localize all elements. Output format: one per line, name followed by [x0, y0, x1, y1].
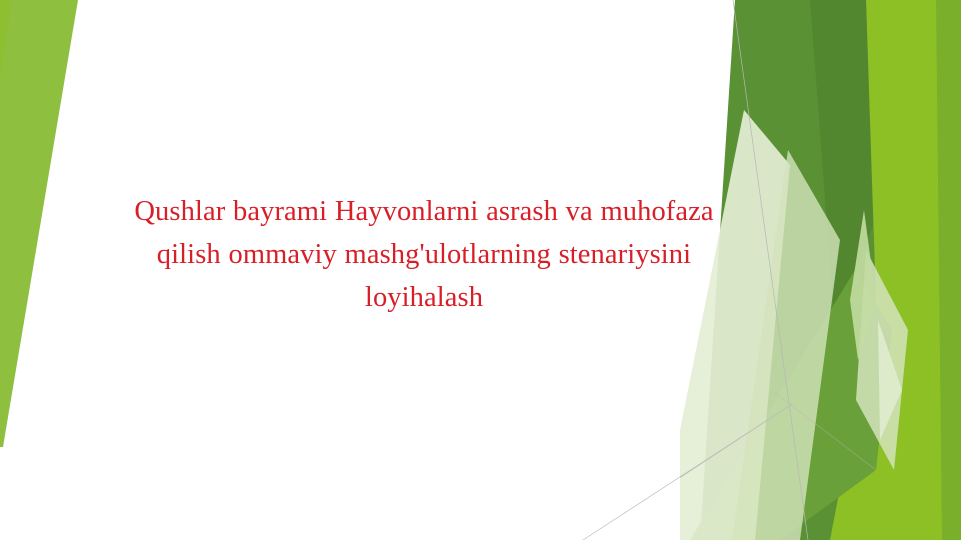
- thin-gray-diagonal-line: [733, 0, 808, 540]
- facet-light-tip: [878, 320, 902, 440]
- thin-gray-diagonal-line-3: [774, 392, 876, 470]
- facet-deep-green-wedge: [810, 0, 873, 330]
- facet-olive-base: [766, 0, 961, 540]
- left-lime-triangle: [0, 0, 78, 447]
- title-placeholder: Qushlar bayrami Hayvonlarni asrash va mu…: [104, 190, 744, 319]
- facet-pale-wedge-right: [856, 250, 908, 470]
- facet-pale-sweep-2: [732, 150, 840, 540]
- left-lime-triangle-shade: [0, 0, 12, 78]
- facet-pale-sweep-1: [680, 110, 790, 540]
- thin-gray-diagonal-line-2: [680, 404, 792, 540]
- facet-light-wedge: [850, 210, 876, 360]
- page-title: Qushlar bayrami Hayvonlarni asrash va mu…: [104, 190, 744, 319]
- slide-canvas: Qushlar bayrami Hayvonlarni asrash va mu…: [0, 0, 961, 540]
- thin-gray-diagonal-line-white-area: [583, 404, 792, 540]
- facet-olive-right-edge: [936, 0, 961, 540]
